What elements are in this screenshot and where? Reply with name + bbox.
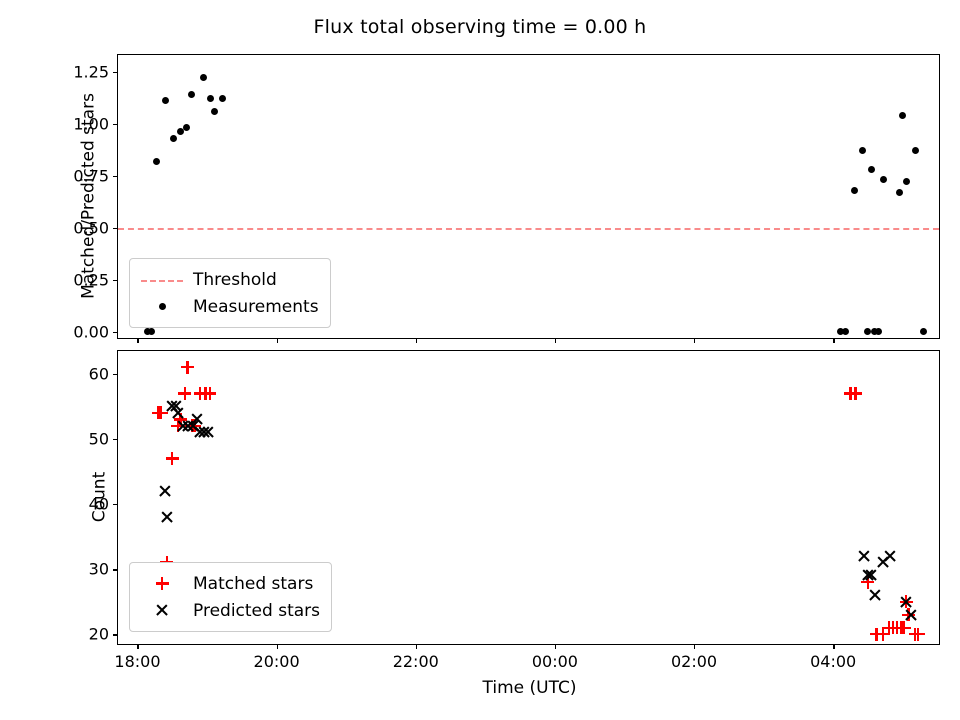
x-tick-mark	[694, 644, 695, 649]
x-tick-label: 20:00	[254, 652, 300, 671]
x-tick-mark	[137, 338, 138, 343]
legend-label: Measurements	[185, 297, 319, 317]
y-tick-label: 1.25	[73, 62, 109, 81]
measurement-point	[896, 189, 903, 196]
x-tick-mark	[555, 644, 556, 649]
top-panel-legend: ThresholdMeasurements	[129, 258, 331, 328]
y-tick-label: 0.50	[73, 218, 109, 237]
x-tick-mark	[137, 644, 138, 649]
x-tick-label: 18:00	[114, 652, 160, 671]
x-tick-mark	[555, 338, 556, 343]
x-tick-mark	[277, 338, 278, 343]
plus-marker-icon	[139, 574, 185, 594]
x-tick-mark	[416, 644, 417, 649]
threshold-line-icon	[139, 270, 185, 290]
measurement-point	[903, 178, 910, 185]
measurement-point	[864, 328, 871, 335]
top-panel-ylabel: Matched/Predicted stars	[79, 53, 99, 338]
x-tick-label: 04:00	[810, 652, 856, 671]
x-tick-mark	[833, 338, 834, 343]
bottom-panel-legend-item[interactable]: Matched stars	[139, 570, 320, 597]
y-tick-label: 60	[89, 364, 109, 383]
measurement-point	[859, 147, 866, 154]
bottom-panel-axes: Count 2030405060 18:0020:0022:0000:0002:…	[117, 350, 940, 645]
measurement-point	[183, 124, 190, 131]
x-tick-mark	[694, 338, 695, 343]
y-tick-label: 1.00	[73, 114, 109, 133]
measurement-point	[170, 135, 177, 142]
x-tick-mark	[833, 644, 834, 649]
x-axis-label: Time (UTC)	[118, 678, 941, 698]
measurement-point	[868, 166, 875, 173]
measurement-point	[162, 97, 169, 104]
x-tick-mark	[416, 338, 417, 343]
measurement-point	[851, 187, 858, 194]
measurement-point	[211, 108, 218, 115]
threshold-line	[118, 228, 939, 230]
dot-marker-icon	[139, 297, 185, 317]
figure-title: Flux total observing time = 0.00 h	[0, 16, 960, 38]
y-tick-label: 40	[89, 495, 109, 514]
measurement-point	[200, 74, 207, 81]
top-panel-legend-item[interactable]: Threshold	[139, 266, 319, 293]
y-tick-label: 0.00	[73, 322, 109, 341]
measurement-point	[153, 158, 160, 165]
legend-label: Matched stars	[185, 574, 313, 594]
y-tick-label: 20	[89, 625, 109, 644]
x-tick-label: 00:00	[532, 652, 578, 671]
measurement-point	[920, 328, 927, 335]
x-tick-label: 02:00	[671, 652, 717, 671]
legend-label: Predicted stars	[185, 601, 320, 621]
top-panel-legend-item[interactable]: Measurements	[139, 293, 319, 320]
cross-marker-icon	[139, 601, 185, 621]
x-tick-label: 22:00	[393, 652, 439, 671]
y-tick-label: 0.75	[73, 166, 109, 185]
measurement-point	[188, 91, 195, 98]
measurement-point	[148, 328, 155, 335]
legend-label: Threshold	[185, 270, 277, 290]
bottom-panel-legend: Matched starsPredicted stars	[129, 562, 332, 632]
measurement-point	[899, 112, 906, 119]
measurement-point	[207, 95, 214, 102]
y-tick-label: 50	[89, 429, 109, 448]
y-tick-label: 30	[89, 560, 109, 579]
x-tick-mark	[277, 644, 278, 649]
bottom-panel-legend-item[interactable]: Predicted stars	[139, 597, 320, 624]
measurement-point	[880, 176, 887, 183]
measurement-point	[875, 328, 882, 335]
y-tick-label: 0.25	[73, 270, 109, 289]
top-panel-axes: Matched/Predicted stars 0.000.250.500.75…	[117, 54, 940, 339]
measurement-point	[842, 328, 849, 335]
measurement-point	[219, 95, 226, 102]
measurement-point	[912, 147, 919, 154]
figure-canvas: Flux total observing time = 0.00 h Match…	[0, 0, 960, 720]
